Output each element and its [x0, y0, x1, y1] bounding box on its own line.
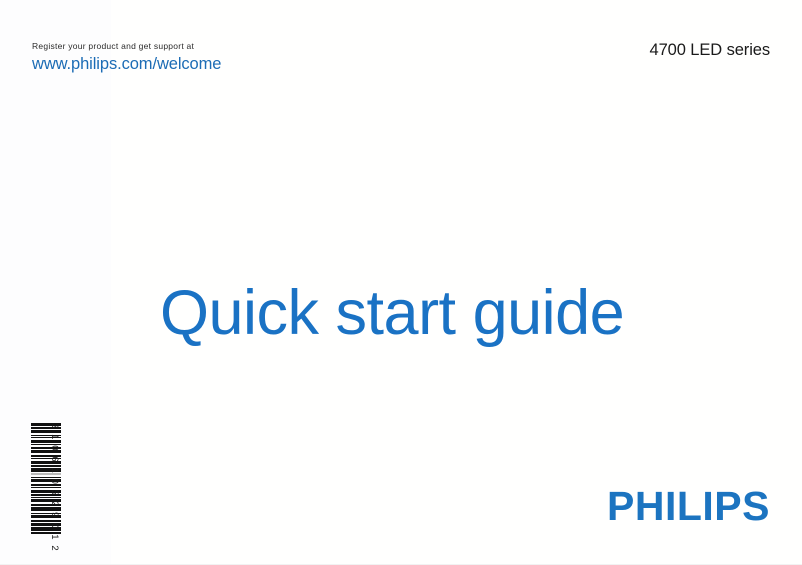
philips-welcome-url[interactable]: www.philips.com/welcome: [32, 54, 221, 74]
register-prompt-text: Register your product and get support at: [32, 40, 221, 52]
barcode: 3 1 0 6 1 0 5 2 9 0 1 2: [31, 423, 77, 534]
quick-start-guide-cover-page: Register your product and get support at…: [0, 0, 802, 565]
page-title: Quick start guide: [160, 275, 624, 351]
philips-logo: PHILIPS: [607, 484, 770, 528]
barcode-number-text: 3 1 0 6 1 0 5 2 9 0 1 2: [47, 423, 61, 534]
product-series-label: 4700 LED series: [650, 39, 771, 61]
register-product-block: Register your product and get support at…: [32, 40, 221, 74]
